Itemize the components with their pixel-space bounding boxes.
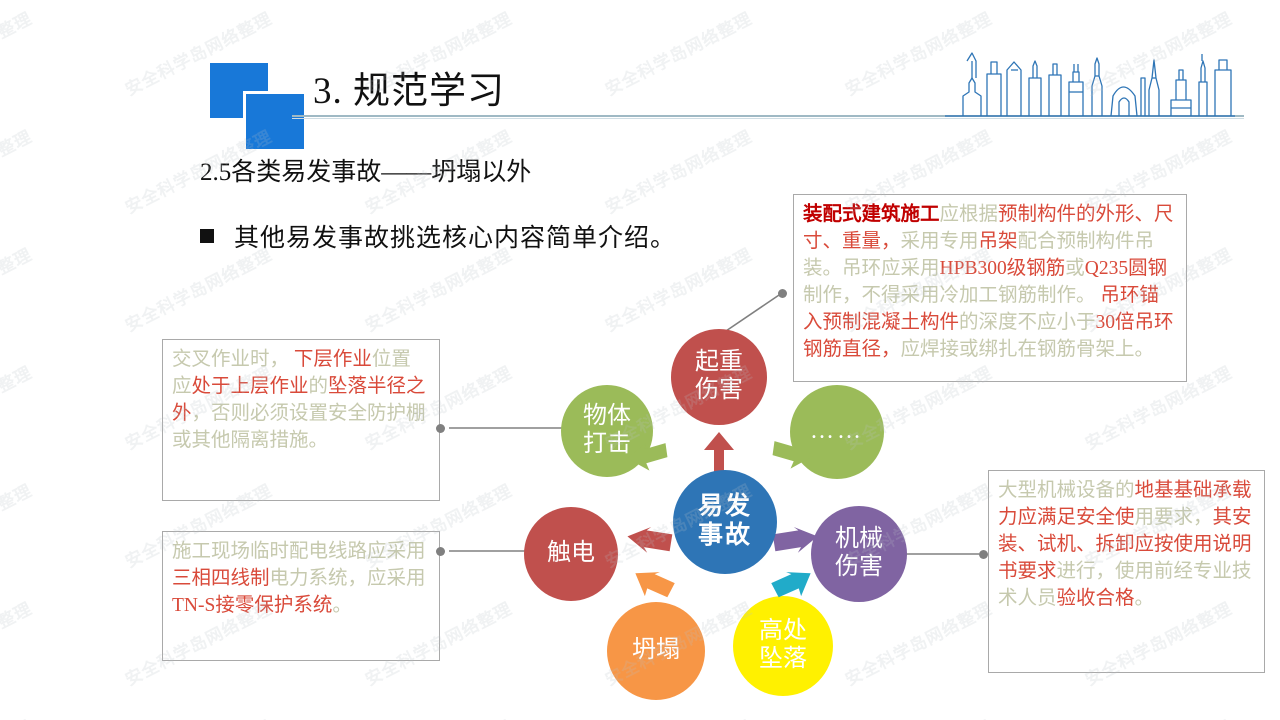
arrow-upleft-green — [625, 442, 685, 494]
diagram-node-qizhong[interactable]: 起重 伤害 — [671, 329, 767, 425]
connector-dot-top-right — [778, 289, 787, 298]
node-label-line2: 打击 — [583, 431, 631, 459]
node-label-line2: 坠落 — [759, 646, 807, 674]
connector-dot-bottom-right — [979, 550, 988, 559]
connector-dot-left-bottom — [436, 547, 445, 556]
center-label-line1: 易发 — [698, 493, 752, 522]
diagram-center-node[interactable]: 易发 事故 — [673, 470, 777, 574]
node-label-line1: 坍塌 — [632, 637, 680, 665]
node-label-line1: 物体 — [583, 403, 631, 431]
center-label-line2: 事故 — [698, 522, 752, 551]
node-label-line1: 起重 — [695, 349, 743, 377]
arrow-upright-green — [765, 440, 825, 492]
arrow-right-purple — [770, 527, 828, 571]
node-label-line1: 高处 — [759, 618, 807, 646]
node-label-line2: 伤害 — [695, 377, 743, 405]
arrow-downleft-orange — [630, 570, 686, 622]
node-label-line1: 机械 — [835, 526, 883, 554]
node-label-line2: 伤害 — [835, 554, 883, 582]
arrow-downright-blue — [766, 570, 822, 622]
node-label-line1: 触电 — [547, 540, 595, 568]
slide-root: 3. 规范学习 — [0, 0, 1280, 720]
connector-dot-left-top — [436, 424, 445, 433]
diagram-node-chudian[interactable]: 触电 — [524, 507, 618, 601]
